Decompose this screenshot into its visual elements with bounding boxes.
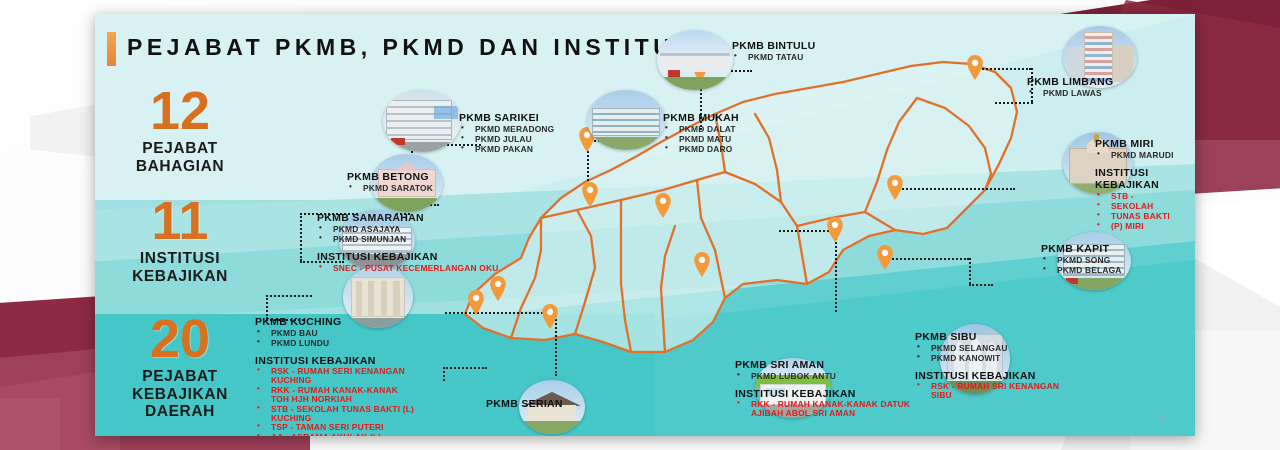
photo-image (657, 30, 733, 90)
photo-image (587, 90, 665, 150)
slide-content: PEJABAT PKMB, PKMD DAN INSTITUSI 12 PEJA… (95, 14, 1195, 436)
institution-title-line2: KEBAJIKAN (1095, 179, 1174, 191)
location-sub: PKMD MATU (663, 134, 739, 144)
location-sub: PKMD LUNDU (255, 338, 425, 348)
stat-label-line3: DAERAH (145, 403, 215, 420)
institution-title: INSTITUSI KEBAJIKAN (317, 251, 498, 263)
location-sub: PKMD JULAU (459, 134, 554, 144)
photo-mukah (587, 90, 665, 150)
location-sub: PKMD TATAU (732, 52, 816, 62)
location-sub: PKMD SARATOK (347, 183, 433, 193)
map-pin-kapit[interactable] (875, 244, 895, 271)
stat-number: 12 (95, 86, 265, 137)
stat-number: 20 (95, 314, 265, 365)
institution-title-line1: INSTITUSI (1095, 167, 1174, 179)
location-sub: PKMD SIMUNJAN (317, 234, 498, 244)
location-title: PKMB KAPIT (1041, 243, 1122, 255)
connector-kapit-v (969, 258, 971, 284)
info-samarahan: PKMB SAMARAHAN PKMD ASAJAYA PKMD SIMUNJA… (317, 212, 498, 273)
info-kapit: PKMB KAPIT PKMD SONG PKMD BELAGA (1041, 243, 1122, 275)
info-bintulu: PKMB BINTULU PKMD TATAU (732, 40, 816, 62)
stat-label-line1: INSTITUSI (140, 250, 220, 267)
location-sub: PKMD MERADONG (459, 124, 554, 134)
location-sub: PKMD LAWAS (1027, 88, 1113, 98)
map-pin-serian[interactable] (488, 275, 508, 302)
map-pin-sriaman[interactable] (540, 303, 560, 330)
connector-samarahan-v (300, 213, 302, 261)
location-title: PKMB MUKAH (663, 112, 739, 124)
institution-item-cont1: SEKOLAH (1095, 201, 1174, 211)
page-number: 9 (1158, 412, 1165, 426)
institution-item: STB - SEKOLAH TUNAS BAKTI (L) KUCHING (255, 405, 417, 424)
connector-limbang-h2 (995, 102, 1033, 104)
location-title: PKMB SERIAN (486, 398, 563, 410)
location-title: PKMB BINTULU (732, 40, 816, 52)
location-sub: PKMD KANOWIT (915, 353, 1065, 363)
map-pin-betong[interactable] (692, 251, 712, 278)
location-title: PKMB SARIKEI (459, 112, 554, 124)
location-sub: PKMD LUBOK ANTU (735, 371, 915, 381)
stat-pejabat-kebajikan-daerah: 20 PEJABAT KEBAJIKAN DAERAH (95, 314, 265, 420)
stat-label: PEJABAT BAHAGIAN (95, 140, 265, 175)
map-pin-samarahan[interactable] (580, 181, 600, 208)
location-title: PKMB SRI AMAN (735, 359, 915, 371)
connector-miri-h (895, 188, 1015, 190)
stat-pejabat-bahagian: 12 PEJABAT BAHAGIAN (95, 86, 265, 175)
connector-kapit-h2 (969, 284, 993, 286)
info-sriaman: PKMB SRI AMAN PKMD LUBOK ANTU INSTITUSI … (735, 359, 915, 419)
location-title: PKMB LIMBANG (1027, 76, 1113, 88)
stat-label-line1: PEJABAT (142, 368, 217, 385)
map-pin-miri[interactable] (885, 174, 905, 201)
institution-item-cont2: TUNAS BAKTI (1095, 211, 1174, 221)
institution-item: STB - (1095, 191, 1174, 201)
stat-label-line1: PEJABAT (142, 140, 217, 157)
connector-serian-h (443, 367, 487, 369)
stat-institusi-kebajikan: 11 INSTITUSI KEBAJIKAN (95, 196, 265, 285)
connector-kapit-h (885, 258, 969, 260)
photo-image (383, 90, 461, 152)
institution-item: RKK - RUMAH KANAK-KANAK TOH HJH NORKIAH (255, 386, 417, 405)
map-pin-kuching[interactable] (466, 289, 486, 316)
institution-item: SNEC - PUSAT KECEMERLANGAN OKU (317, 263, 498, 273)
info-sibu: PKMB SIBU PKMD SELANGAU PKMD KANOWIT INS… (915, 331, 1065, 401)
photo-bintulu (657, 30, 733, 90)
stat-label-line2: KEBAJIKAN (132, 386, 228, 403)
stat-label-line2: BAHAGIAN (136, 158, 224, 175)
info-mukah: PKMB MUKAH PKMD DALAT PKMD MATU PKMD DAR… (663, 112, 739, 154)
location-title: PKMB MIRI (1095, 138, 1174, 150)
slide-card: PEJABAT PKMB, PKMD DAN INSTITUSI 12 PEJA… (95, 14, 1195, 436)
institution-item: RSK - RUMAH SRI KENANGAN SIBU (915, 382, 1061, 401)
title-accent-bar (107, 32, 116, 66)
info-serian: PKMB SERIAN (486, 398, 563, 410)
info-miri: PKMB MIRI PKMD MARUDI INSTITUSI KEBAJIKA… (1095, 138, 1174, 231)
location-sub: PKMD BELAGA (1041, 265, 1122, 275)
info-sarikei: PKMB SARIKEI PKMD MERADONG PKMD JULAU PK… (459, 112, 554, 154)
location-sub: PKMD ASAJAYA (317, 224, 498, 234)
institution-item-cont3: (P) MIRI (1095, 221, 1174, 231)
map-pin-limbang[interactable] (965, 54, 985, 81)
photo-sarikei (383, 90, 461, 152)
stat-label: INSTITUSI KEBAJIKAN (95, 250, 265, 285)
stat-label-line2: KEBAJIKAN (132, 268, 228, 285)
stat-number: 11 (95, 196, 265, 247)
location-sub: PKMD DALAT (663, 124, 739, 134)
institution-item: AA - ASRAMA AKHLAK (L) (255, 433, 417, 436)
location-sub: PKMD SONG (1041, 255, 1122, 265)
map-pin-sibu[interactable] (825, 216, 845, 243)
connector-kuching-h (266, 295, 312, 297)
institution-item: RSK - RUMAH SERI KENANGAN KUCHING (255, 367, 417, 386)
connector-sriaman-h (445, 312, 555, 314)
info-kuching: PKMB KUCHING PKMD BAU PKMD LUNDU INSTITU… (255, 316, 425, 436)
info-limbang: PKMB LIMBANG PKMD LAWAS (1027, 76, 1113, 98)
location-title: PKMB BETONG (347, 171, 433, 183)
location-sub: PKMD SELANGAU (915, 343, 1065, 353)
location-sub: PKMD BAU (255, 328, 425, 338)
location-sub: PKMD DARO (663, 144, 739, 154)
location-sub: PKMD PAKAN (459, 144, 554, 154)
stat-label: PEJABAT KEBAJIKAN DAERAH (95, 368, 265, 420)
map-pin-sarikei[interactable] (653, 192, 673, 219)
backdrop-left-maroon-4 (0, 398, 60, 450)
location-sub: PKMD MARUDI (1095, 150, 1174, 160)
location-title: PKMB SAMARAHAN (317, 212, 498, 224)
info-betong: PKMB BETONG PKMD SARATOK (347, 171, 433, 193)
location-title: PKMB KUCHING (255, 316, 425, 328)
connector-serian-v (443, 367, 445, 381)
location-title: PKMB SIBU (915, 331, 1065, 343)
institution-item: RKK - RUMAH KANAK-KANAK DATUK AJIBAH ABO… (735, 400, 911, 419)
